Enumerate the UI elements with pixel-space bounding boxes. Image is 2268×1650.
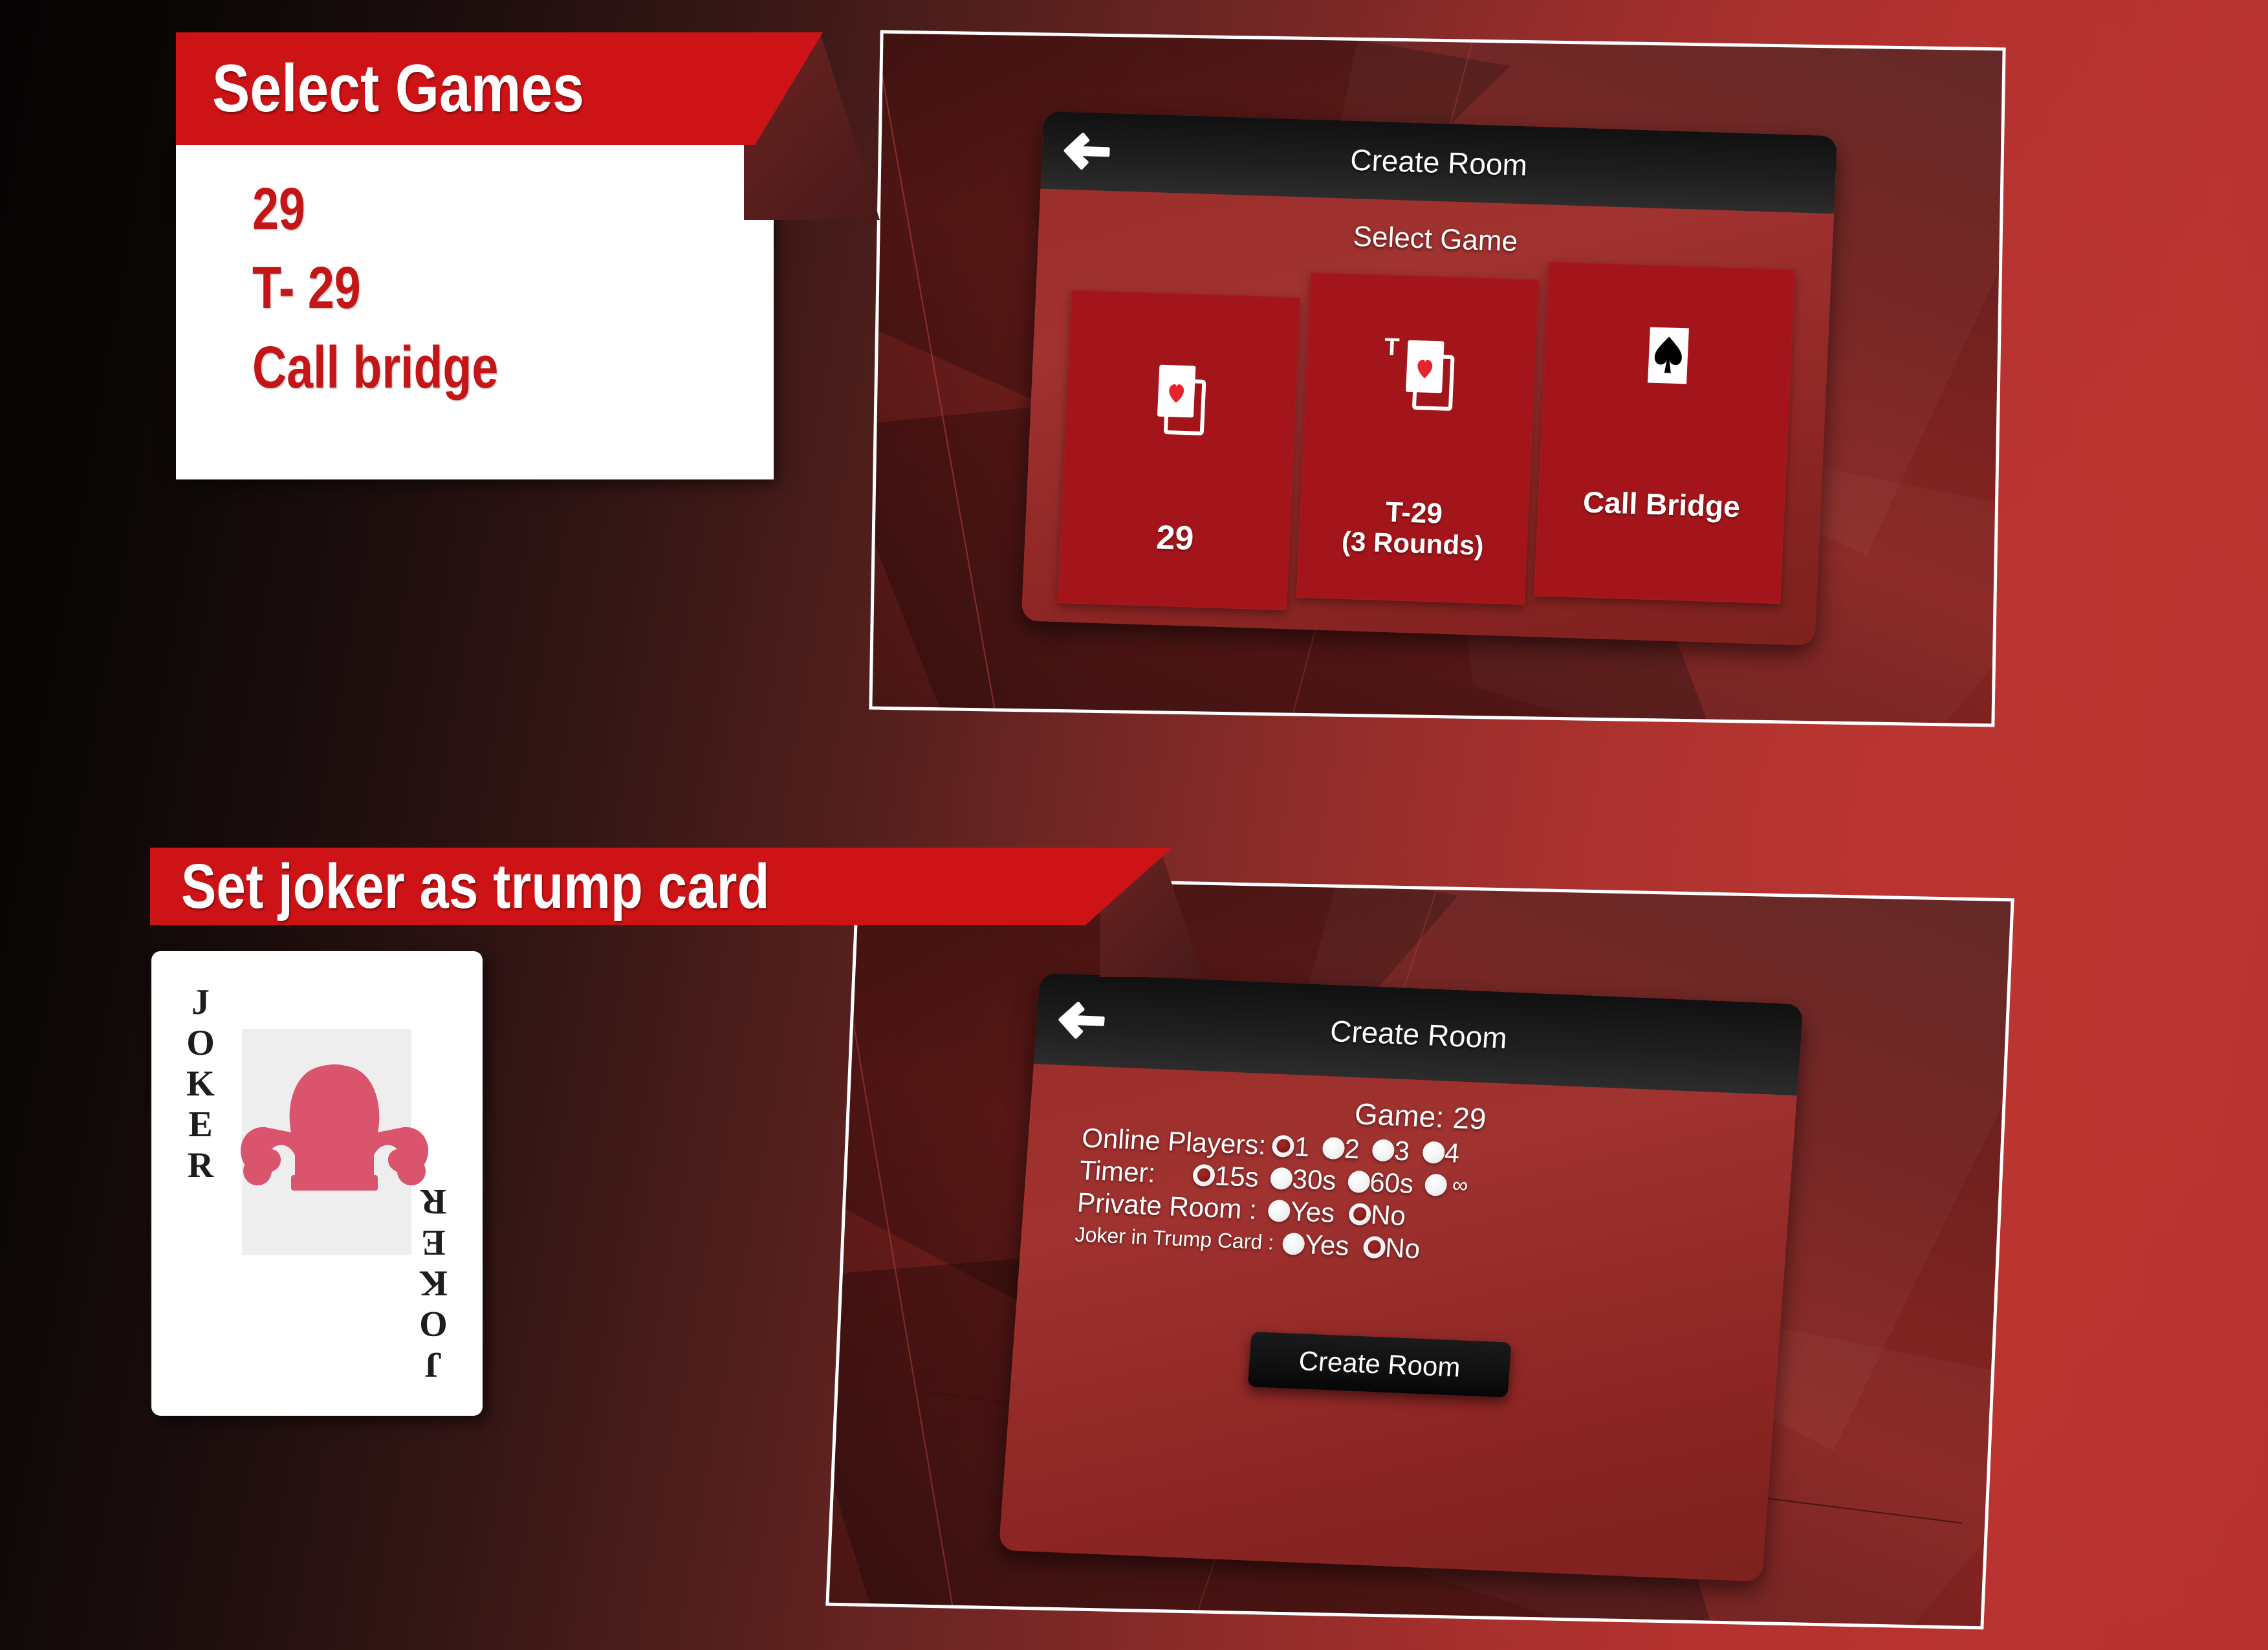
joker-card-label-bottom: JOKER — [415, 1181, 452, 1385]
banner-set-joker: Set joker as trump card — [150, 848, 1172, 925]
joker-card-label-top: JOKER — [182, 982, 219, 1186]
banner-set-joker-label: Set joker as trump card — [181, 850, 770, 923]
banner-select-games-label: Select Games — [212, 50, 584, 127]
games-list-item: 29 — [252, 170, 670, 248]
banner-select-games: Select Games — [176, 32, 823, 145]
joker-playing-card: JOKER JOKER — [151, 951, 483, 1416]
screenshot-frame-select-game: Create Room Select Game 29 — [869, 30, 2005, 727]
screenshot-frame-border — [869, 30, 2005, 727]
screenshot-frame-border — [825, 875, 2014, 1630]
games-list-item: Call bridge — [252, 328, 670, 407]
games-list-panel: 29 T- 29 Call bridge — [176, 145, 774, 479]
games-list-item: T- 29 — [252, 248, 670, 327]
screenshot-frame-create-room: Create Room Game: 29 Online Players: 1 — [825, 875, 2014, 1630]
jester-hat-icon — [224, 1055, 431, 1216]
